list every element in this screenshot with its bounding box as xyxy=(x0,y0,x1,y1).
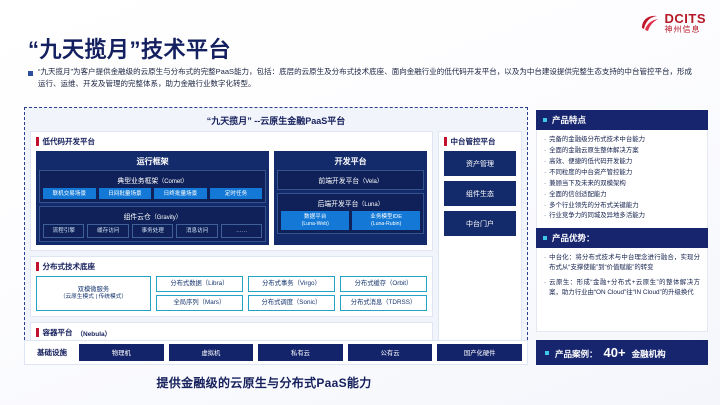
dot-bullet-icon: · xyxy=(544,190,546,200)
lowcode-columns: 运行框架 典型业务框架（Comet） 联机交易场景 日间批量场景 日终批量场景 … xyxy=(36,151,427,245)
gravity-item[interactable]: 消息访问 xyxy=(176,224,217,237)
comet-title: 典型业务框架（Comet） xyxy=(43,174,262,188)
comet-item[interactable]: 日间批量场景 xyxy=(99,188,152,199)
dot-bullet-icon: · xyxy=(544,135,546,145)
dot-bullet-icon: · xyxy=(544,157,546,167)
feature-text: 完备的金融级分布式技术中台能力 xyxy=(549,135,645,145)
product-advantages-title: 产品优势： xyxy=(552,232,595,244)
gravity-code: （Gravity） xyxy=(151,215,182,221)
midplatform-control-section: 中台管控平台 资产管理 组件生态 中台门户 xyxy=(438,131,522,365)
midplatform-control-title: 中台管控平台 xyxy=(451,136,496,147)
advantage-text: 云原生：形成“金融+分布式+云原生”的整体解决方案，助力行业由“ON Cloud… xyxy=(549,278,700,299)
feature-text: 行业竞争力的同城及异地多活能力 xyxy=(549,211,645,221)
gravity-items: 流程引擎 缓存访问 事务处理 消息访问 …… xyxy=(43,224,262,237)
feature-item: ·多个行业领先的分布式关键能力 xyxy=(544,201,700,211)
dot-bullet-icon: · xyxy=(544,201,546,211)
dot-bullet-icon: · xyxy=(544,253,546,274)
feature-item: ·全面的金融云原生整体解决方案 xyxy=(544,146,700,156)
feature-text: 高效、便捷的低代码开发能力 xyxy=(549,157,632,167)
product-case-unit: 金融机构 xyxy=(632,348,666,360)
feature-item: ·兼顾当下及未来的双模架构 xyxy=(544,179,700,189)
base-column: 分布式事务（Virgo） 分布式调度（Sonic） xyxy=(248,276,335,311)
lowcode-section: 低代码开发平台 运行框架 典型业务框架（Comet） 联机交易场景 xyxy=(30,131,433,251)
dcits-logo: DCITS 神州信息 xyxy=(639,12,707,34)
feature-item: ·高效、便捷的低代码开发能力 xyxy=(544,157,700,167)
midplatform-item[interactable]: 中台门户 xyxy=(444,211,516,236)
square-bullet-icon xyxy=(545,351,549,355)
midplatform-item[interactable]: 组件生态 xyxy=(444,181,516,206)
feature-item: ·行业竞争力的同城及异地多活能力 xyxy=(544,211,700,221)
midplatform-control-header: 中台管控平台 xyxy=(444,136,516,147)
midplatform-control-column: 中台管控平台 资产管理 组件生态 中台门户 xyxy=(438,131,522,365)
infrastructure-row: 基础设施 物理机 虚拟机 私有云 公有云 国产化硬件 xyxy=(24,340,528,365)
dev-platform-block: 开发平台 前端开发平台（Vela） 后端开发平台（Luna） xyxy=(274,151,427,245)
comet-items: 联机交易场景 日间批量场景 日终批量场景 定时任务 xyxy=(43,188,262,199)
base-column: 分布式缓存（Orbit） 分布式消息（TDRSS） xyxy=(340,276,427,311)
product-features-body: ·完备的金融级分布式技术中台能力 ·全面的金融云原生整体解决方案 ·高效、便捷的… xyxy=(536,130,708,229)
feature-item: ·不同粒度的中台资产管控能力 xyxy=(544,168,700,178)
intro-text: “九天揽月”为客户提供金融级的云原生与分布式的完整PaaS能力，包括：底层的云原… xyxy=(38,66,692,91)
backend-item-code: (Luna-Web) xyxy=(282,221,348,228)
square-bullet-icon xyxy=(543,236,547,240)
footer-caption: 提供金融级的云原生与分布式PaaS能力 xyxy=(0,374,528,391)
frontend-name: 前端开发平台 xyxy=(318,178,359,185)
square-bullet-icon xyxy=(543,118,547,122)
dcits-logo-text: DCITS 神州信息 xyxy=(665,12,707,34)
section-accent-bar-icon xyxy=(36,137,39,146)
backend-item-name: 业务模型IDE xyxy=(370,214,402,220)
gravity-name: 组件云仓 xyxy=(124,214,151,221)
dot-bullet-icon: · xyxy=(544,146,546,156)
architecture-title: “九天揽月” --云原生金融PaaS平台 xyxy=(30,112,522,131)
comet-box[interactable]: 典型业务框架（Comet） 联机交易场景 日间批量场景 日终批量场景 定时任务 xyxy=(39,170,266,203)
feature-item: ·全面的信创适配能力 xyxy=(544,190,700,200)
runtime-framework-block: 运行框架 典型业务框架（Comet） 联机交易场景 日间批量场景 日终批量场景 … xyxy=(36,151,269,245)
gravity-item[interactable]: 缓存访问 xyxy=(87,224,128,237)
feature-text: 不同粒度的中台资产管控能力 xyxy=(549,168,632,178)
container-platform-title: 容器平台 xyxy=(43,327,73,338)
distributed-base-title: 分布式技术底座 xyxy=(43,261,96,272)
distributed-base-grid: 双模微服务 （云原生模式 | 传统模式） 分布式数据（Libra） 全局序列（M… xyxy=(36,276,427,311)
comet-item[interactable]: 日终批量场景 xyxy=(154,188,207,199)
comet-item[interactable]: 定时任务 xyxy=(210,188,263,199)
distributed-base-section: 分布式技术底座 双模微服务 （云原生模式 | 传统模式） 分布式数据（Libra… xyxy=(30,256,433,317)
container-platform-code: （Nebula） xyxy=(77,328,112,338)
dot-bullet-icon: · xyxy=(544,168,546,178)
frontend-code: （Vela） xyxy=(359,179,383,185)
dual-mode-microservice-cell[interactable]: 双模微服务 （云原生模式 | 传统模式） xyxy=(36,276,151,311)
backend-items: 数据平台 (Luna-Web) 业务模型IDE (Luna-Rubin) xyxy=(281,211,420,230)
slide-root: DCITS 神州信息 “九天揽月”技术平台 “九天揽月”为客户提供金融级的云原生… xyxy=(0,0,720,405)
infrastructure-item[interactable]: 虚拟机 xyxy=(169,344,254,361)
infrastructure-label: 基础设施 xyxy=(30,347,74,358)
lowcode-section-title: 低代码开发平台 xyxy=(43,136,96,147)
container-platform-header: 容器平台 （Nebula） xyxy=(36,327,427,338)
runtime-framework-title: 运行框架 xyxy=(39,154,266,170)
dev-platform-title: 开发平台 xyxy=(277,154,424,170)
frontend-platform-box[interactable]: 前端开发平台（Vela） xyxy=(277,170,424,190)
feature-text: 全面的信创适配能力 xyxy=(549,190,607,200)
backend-name: 后端开发平台 xyxy=(318,201,359,208)
infrastructure-item[interactable]: 物理机 xyxy=(79,344,164,361)
dot-bullet-icon: · xyxy=(544,211,546,221)
product-features-panel: 产品特点 ·完备的金融级分布式技术中台能力 ·全面的金融云原生整体解决方案 ·高… xyxy=(536,110,708,229)
logo-en: DCITS xyxy=(665,12,707,25)
lowcode-section-header: 低代码开发平台 xyxy=(36,136,427,147)
gravity-item[interactable]: 事务处理 xyxy=(132,224,173,237)
product-advantages-panel: 产品优势： ·中台化：将分布式技术与中台理念进行融合，实现分布式从“支撑使能”到… xyxy=(536,228,708,332)
section-accent-bar-icon xyxy=(444,137,447,146)
product-features-title: 产品特点 xyxy=(552,114,586,126)
product-advantages-body: ·中台化：将分布式技术与中台理念进行融合，实现分布式从“支撑使能”到“价值赋能”… xyxy=(536,248,708,332)
dual-mode-sub: （云原生模式 | 传统模式） xyxy=(39,294,148,301)
gravity-item[interactable]: …… xyxy=(221,224,262,237)
advantage-item: ·云原生：形成“金融+分布式+云原生”的整体解决方案，助力行业由“ON Clou… xyxy=(544,278,700,299)
comet-name: 典型业务框架 xyxy=(117,178,158,185)
dot-bullet-icon: · xyxy=(544,179,546,189)
gravity-title: 组件云仓（Gravity） xyxy=(43,210,262,224)
distributed-base-header: 分布式技术底座 xyxy=(36,261,427,272)
backend-item[interactable]: 数据平台 (Luna-Web) xyxy=(281,211,349,230)
product-case-panel: 产品案例： 40+ 金融机构 xyxy=(536,340,708,365)
base-cell[interactable]: 全局序列（Mars） xyxy=(156,295,243,311)
dual-mode-name: 双模微服务 xyxy=(39,286,148,294)
base-cell[interactable]: 分布式调度（Sonic） xyxy=(248,295,335,311)
square-bullet-icon xyxy=(28,71,33,76)
backend-item[interactable]: 业务模型IDE (Luna-Rubin) xyxy=(352,211,420,230)
frontend-platform-title: 前端开发平台（Vela） xyxy=(281,174,420,186)
product-advantages-header: 产品优势： xyxy=(536,228,708,248)
architecture-top-row: 低代码开发平台 运行框架 典型业务框架（Comet） 联机交易场景 xyxy=(30,131,522,365)
backend-item-code: (Luna-Rubin) xyxy=(353,221,419,228)
gravity-item[interactable]: 流程引擎 xyxy=(43,224,84,237)
advantage-text: 中台化：将分布式技术与中台理念进行融合，实现分布式从“支撑使能”到“价值赋能”的… xyxy=(549,253,700,274)
product-case-label: 产品案例： xyxy=(555,348,598,360)
comet-item[interactable]: 联机交易场景 xyxy=(43,188,96,199)
architecture-left-column: 低代码开发平台 运行框架 典型业务框架（Comet） 联机交易场景 xyxy=(30,131,433,365)
logo-cn: 神州信息 xyxy=(665,26,707,34)
dcits-logo-icon xyxy=(639,12,661,34)
base-cell[interactable]: 分布式消息（TDRSS） xyxy=(340,295,427,311)
infrastructure-item[interactable]: 公有云 xyxy=(348,344,433,361)
product-case-number: 40+ xyxy=(604,345,626,360)
feature-item: ·完备的金融级分布式技术中台能力 xyxy=(544,135,700,145)
backend-code: （Luna） xyxy=(358,202,383,208)
product-features-header: 产品特点 xyxy=(536,110,708,130)
intro-bullet: “九天揽月”为客户提供金融级的云原生与分布式的完整PaaS能力，包括：底层的云原… xyxy=(28,66,692,91)
infrastructure-item[interactable]: 国产化硬件 xyxy=(437,344,522,361)
feature-text: 全面的金融云原生整体解决方案 xyxy=(549,146,638,156)
feature-text: 多个行业领先的分布式关键能力 xyxy=(549,201,638,211)
gravity-box[interactable]: 组件云仓（Gravity） 流程引擎 缓存访问 事务处理 消息访问 …… xyxy=(39,206,266,241)
backend-item-name: 数据平台 xyxy=(304,214,326,220)
architecture-panel: “九天揽月” --云原生金融PaaS平台 低代码开发平台 运行框架 xyxy=(24,107,528,365)
backend-platform-title: 后端开发平台（Luna） xyxy=(281,197,420,211)
page-title: “九天揽月”技术平台 xyxy=(28,32,231,64)
base-cell[interactable]: 分布式事务（Virgo） xyxy=(248,276,335,292)
comet-code: （Comet） xyxy=(158,179,188,185)
base-column: 分布式数据（Libra） 全局序列（Mars） xyxy=(156,276,243,311)
base-cell[interactable]: 分布式数据（Libra） xyxy=(156,276,243,292)
dot-bullet-icon: · xyxy=(544,278,546,299)
section-accent-bar-icon xyxy=(36,328,39,337)
infrastructure-item[interactable]: 私有云 xyxy=(258,344,343,361)
advantage-item: ·中台化：将分布式技术与中台理念进行融合，实现分布式从“支撑使能”到“价值赋能”… xyxy=(544,253,700,274)
midplatform-item[interactable]: 资产管理 xyxy=(444,151,516,176)
feature-text: 兼顾当下及未来的双模架构 xyxy=(549,179,626,189)
section-accent-bar-icon xyxy=(36,262,39,271)
backend-platform-box[interactable]: 后端开发平台（Luna） 数据平台 (Luna-Web) 业务模型IDE xyxy=(277,193,424,234)
base-cell[interactable]: 分布式缓存（Orbit） xyxy=(340,276,427,292)
